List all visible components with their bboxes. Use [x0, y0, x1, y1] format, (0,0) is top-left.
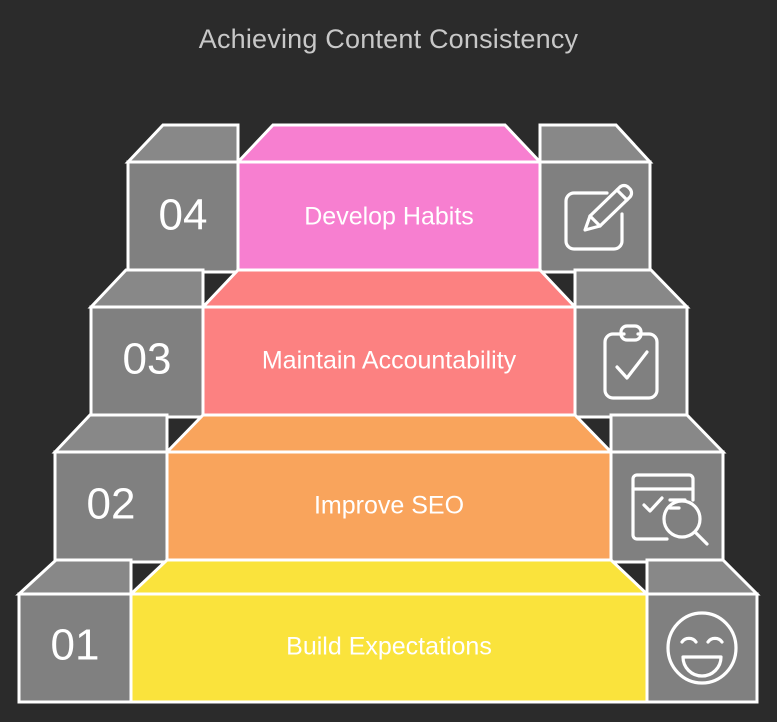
- step-01-number: 01: [51, 621, 100, 670]
- step-01[interactable]: 01 Build Expectations: [19, 560, 757, 702]
- step-04-left-top-face: [128, 125, 238, 162]
- step-04-center-top-face: [238, 125, 540, 162]
- staircase-diagram: 04 Develop Habits 03 Maintain Accountabi…: [0, 0, 777, 722]
- step-02-center-top-face: [167, 415, 611, 452]
- step-01-left-top-face: [19, 560, 131, 594]
- step-02-label: Improve SEO: [314, 492, 464, 520]
- step-03-icon-panel: [575, 307, 687, 417]
- step-04-label: Develop Habits: [304, 203, 474, 231]
- step-01-icon-panel: [647, 594, 757, 702]
- step-03-label: Maintain Accountability: [262, 347, 517, 375]
- step-02-left-top-face: [55, 415, 167, 452]
- step-04[interactable]: 04 Develop Habits: [128, 125, 650, 272]
- step-02-number: 02: [87, 480, 136, 529]
- step-02-right-top-face: [611, 415, 723, 452]
- step-03-left-top-face: [91, 270, 203, 307]
- step-01-label: Build Expectations: [286, 633, 492, 661]
- step-03-right-top-face: [575, 270, 687, 307]
- step-02[interactable]: 02 Improve SEO: [55, 415, 723, 562]
- step-03-center-top-face: [203, 270, 575, 307]
- step-01-right-top-face: [647, 560, 757, 594]
- step-03[interactable]: 03 Maintain Accountability: [91, 270, 687, 417]
- step-04-icon-panel: [540, 162, 650, 272]
- step-04-number: 04: [159, 191, 208, 240]
- infographic-canvas: Achieving Content Consistency 04 Develop…: [0, 0, 777, 722]
- step-01-center-top-face: [131, 560, 647, 594]
- step-03-number: 03: [123, 335, 172, 384]
- step-04-right-top-face: [540, 125, 650, 162]
